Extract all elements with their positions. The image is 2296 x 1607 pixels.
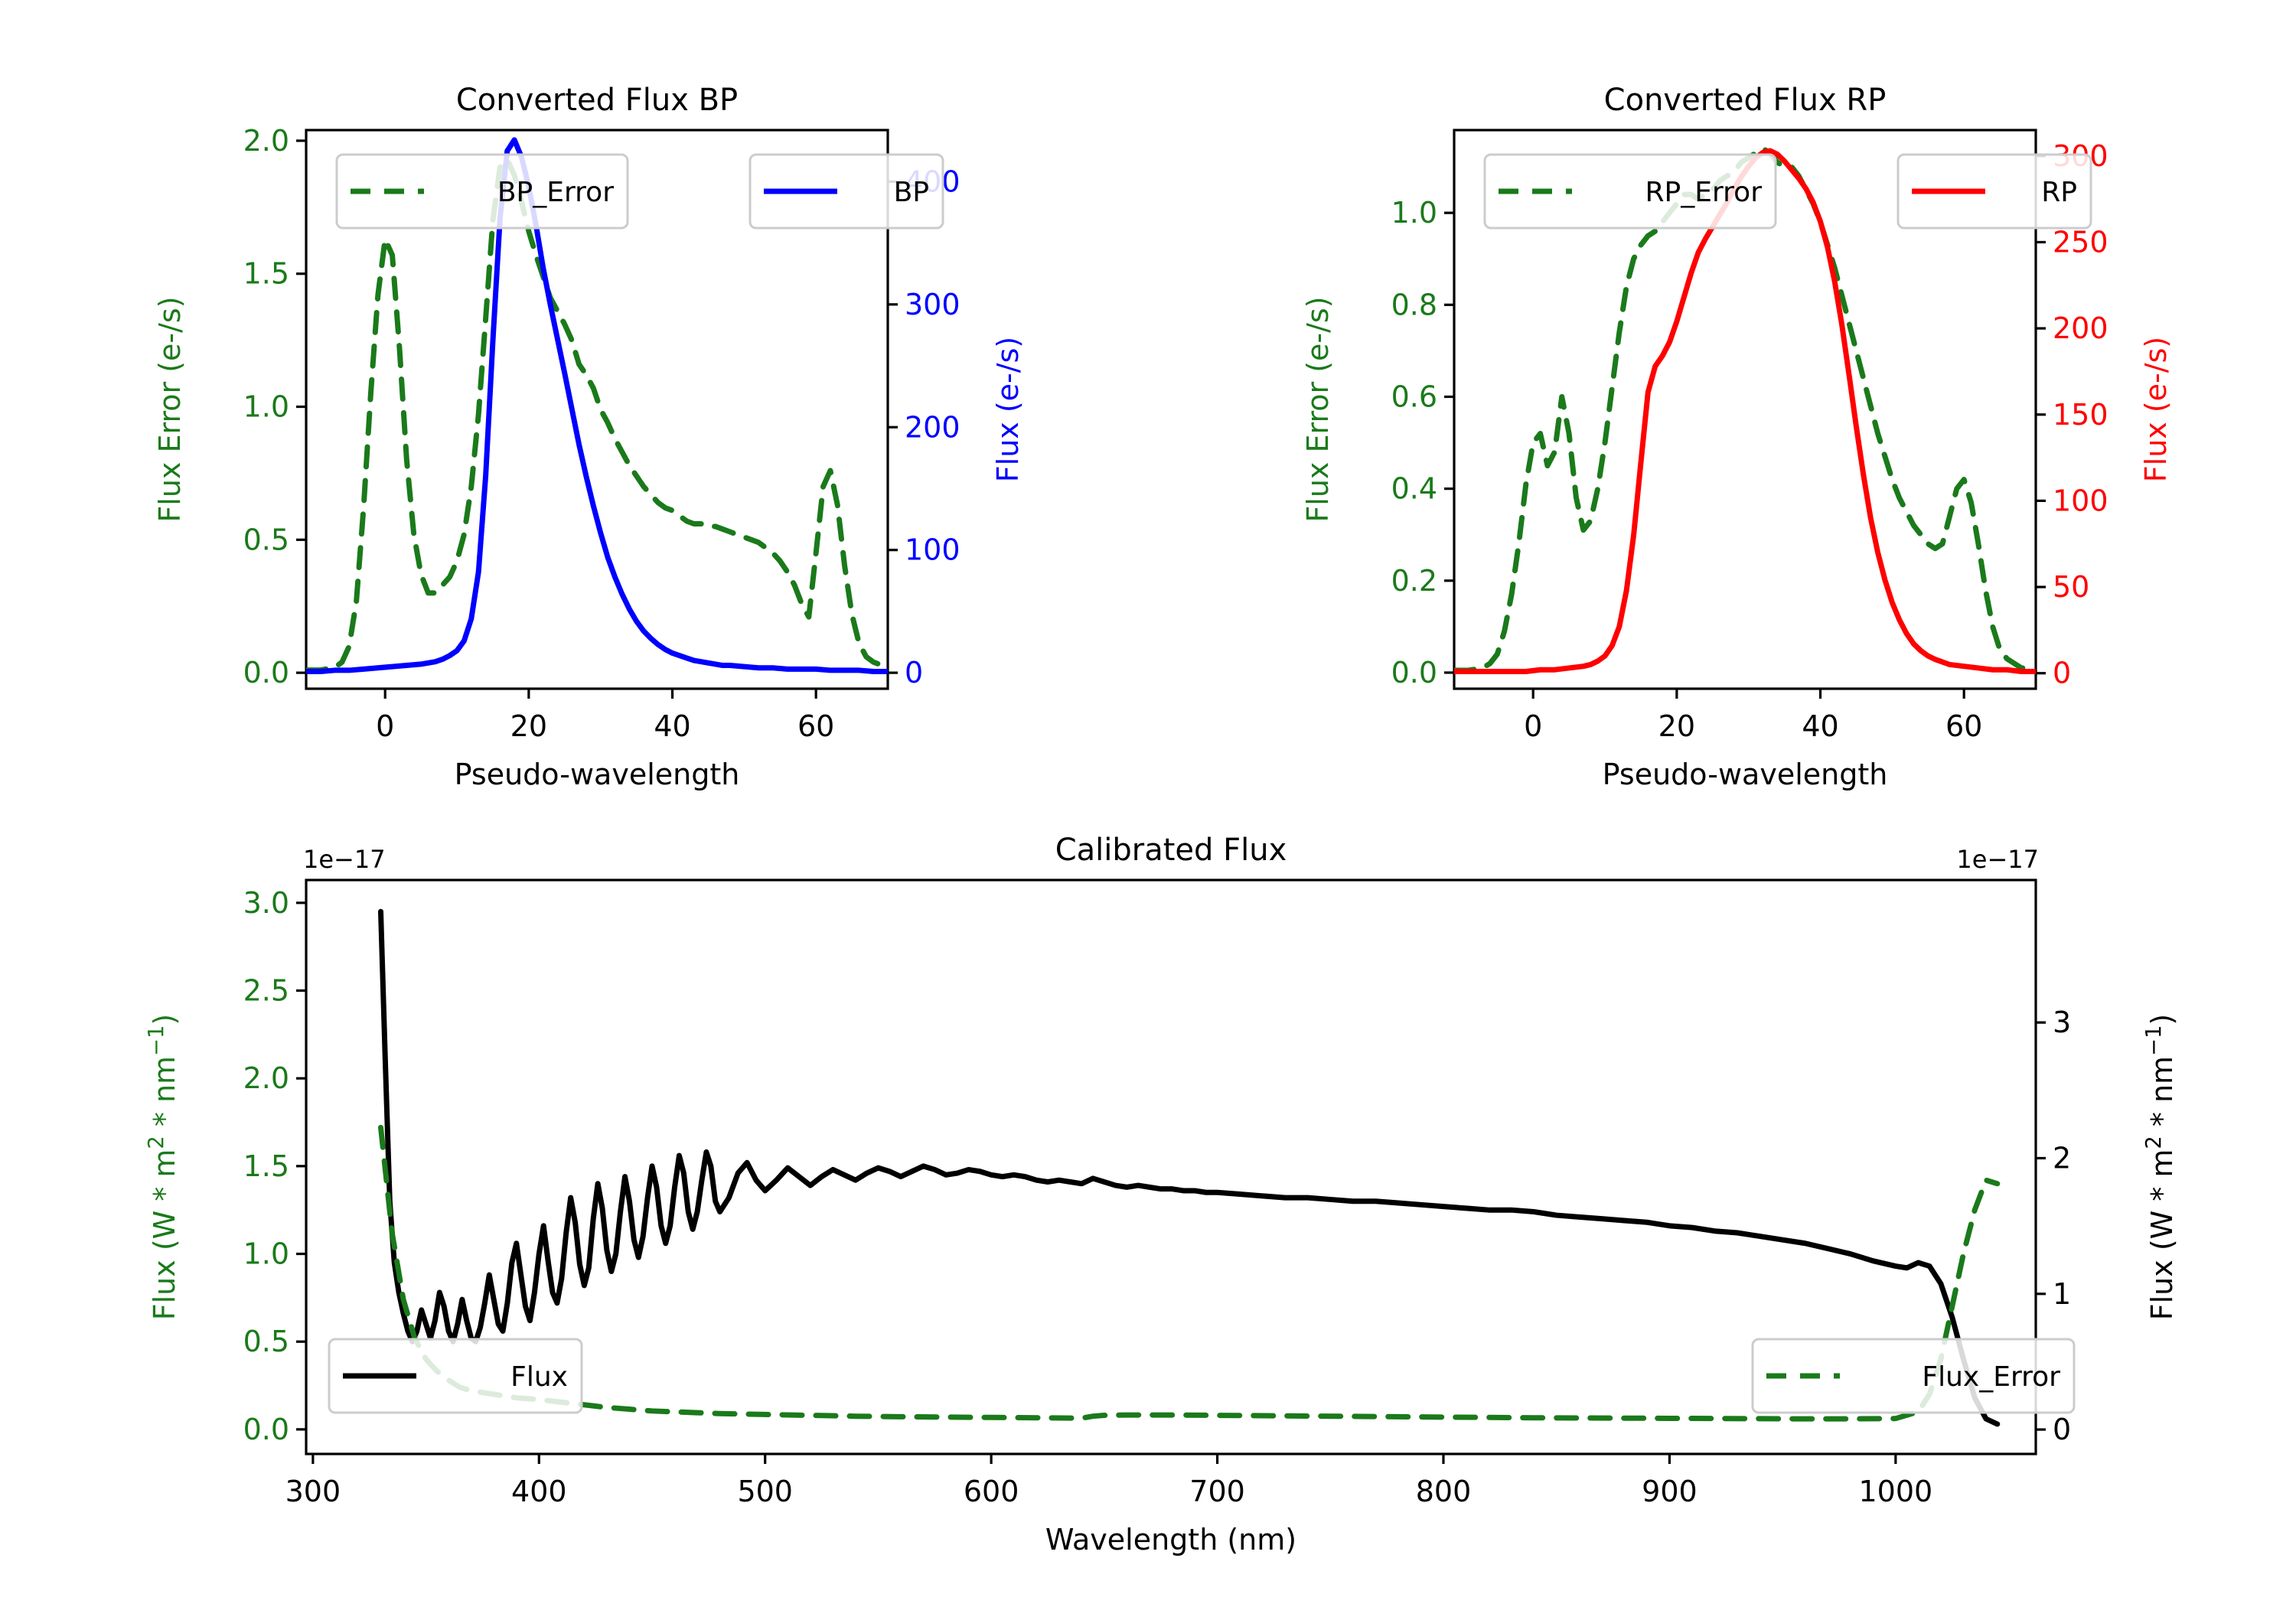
calibrated-ytick-left: 3.0 <box>243 886 289 920</box>
calibrated-ytick-right: 1 <box>2053 1277 2071 1311</box>
bp-ylabel-left: Flux Error (e-/s) <box>153 296 187 522</box>
bp-ylabel-right: Flux (e-/s) <box>991 337 1025 482</box>
calibrated-ytick-left: 2.0 <box>243 1061 289 1095</box>
bp-ytick-left: 0.0 <box>243 656 289 689</box>
rp-ytick-left: 1.0 <box>1391 196 1437 230</box>
calibrated-title: Calibrated Flux <box>1055 834 1287 868</box>
rp-ytick-left: 0.8 <box>1391 288 1437 321</box>
rp-legend-rp_error[interactable]: RP_Error <box>1485 155 1776 228</box>
rp-ytick-right: 250 <box>2053 225 2108 259</box>
bp-xlabel: Pseudo-wavelength <box>455 758 740 791</box>
calibrated-xtick: 500 <box>737 1475 793 1508</box>
rp-ytick-left: 0.2 <box>1391 564 1437 598</box>
calibrated-xtick: 800 <box>1416 1475 1472 1508</box>
rp-ytick-left: 0.0 <box>1391 656 1437 689</box>
calibrated-ytick-right: 3 <box>2053 1006 2071 1039</box>
legend-label: BP_Error <box>497 177 614 208</box>
calibrated-ylabel-left: Flux (W * m2 * nm−1) <box>145 1014 182 1321</box>
rp-ytick-right: 150 <box>2053 398 2108 432</box>
rp-ytick-right: 100 <box>2053 484 2108 517</box>
bp-xtick: 20 <box>510 709 547 743</box>
bp-ytick-right: 300 <box>905 288 960 321</box>
calibrated-ytick-left: 2.5 <box>243 973 289 1007</box>
rp-xtick: 20 <box>1658 709 1695 743</box>
rp-ytick-right: 0 <box>2053 657 2071 690</box>
legend-label: RP <box>2041 177 2077 208</box>
calibrated-legend-flux[interactable]: Flux <box>329 1339 582 1413</box>
rp-ytick-right: 50 <box>2053 570 2089 604</box>
rp-ytick-left: 0.4 <box>1391 472 1437 506</box>
calibrated-ylabel-right: Flux (W * m2 * nm−1) <box>2142 1014 2180 1321</box>
bp-panel: Converted Flux BP0204060Pseudo-wavelengt… <box>0 46 1148 819</box>
bp-legend-bp_error[interactable]: BP_Error <box>337 155 628 228</box>
calibrated-ytick-left: 0.0 <box>243 1413 289 1446</box>
legend-label: Flux <box>510 1361 568 1393</box>
bp-legend-bp[interactable]: BP <box>750 155 943 228</box>
calibrated-ytick-right: 2 <box>2053 1141 2071 1175</box>
calibrated-xtick: 700 <box>1189 1475 1245 1508</box>
rp-legend-rp[interactable]: RP <box>1898 155 2091 228</box>
bp-title: Converted Flux BP <box>456 83 738 118</box>
bp-ytick-left: 1.0 <box>243 390 289 424</box>
calibrated-xtick: 900 <box>1642 1475 1698 1508</box>
rp-xtick: 40 <box>1802 709 1838 743</box>
rp-xtick: 0 <box>1524 709 1542 743</box>
calibrated-xtick: 400 <box>511 1475 567 1508</box>
bp-xtick: 60 <box>797 709 834 743</box>
rp-ylabel-right: Flux (e-/s) <box>2139 337 2173 482</box>
calibrated-left-offset: 1e−17 <box>303 845 386 874</box>
rp-ytick-left: 0.6 <box>1391 380 1437 413</box>
calibrated-xtick: 300 <box>285 1475 341 1508</box>
rp-panel: Converted Flux RP0204060Pseudo-wavelengt… <box>1148 46 2296 819</box>
calibrated-legend-flux_error[interactable]: Flux_Error <box>1753 1339 2074 1413</box>
bp-ytick-left: 2.0 <box>243 124 289 158</box>
rp-ylabel-left: Flux Error (e-/s) <box>1301 296 1335 522</box>
calibrated-ytick-right: 0 <box>2053 1413 2071 1446</box>
calibrated-panel: Calibrated Flux1e−171e−17300400500600700… <box>0 834 2296 1607</box>
legend-label: BP <box>894 177 929 208</box>
figure-canvas: Converted Flux BP0204060Pseudo-wavelengt… <box>0 0 2296 1607</box>
legend-label: RP_Error <box>1645 177 1763 208</box>
legend-label: Flux_Error <box>1922 1361 2060 1393</box>
bp-xtick: 0 <box>376 709 394 743</box>
bp-ytick-right: 0 <box>905 656 923 689</box>
bp-series-bp_error <box>306 159 888 670</box>
bp-ytick-right: 100 <box>905 533 960 567</box>
calibrated-ytick-left: 0.5 <box>243 1325 289 1358</box>
rp-xtick: 60 <box>1945 709 1982 743</box>
bp-ytick-right: 200 <box>905 410 960 444</box>
calibrated-ytick-left: 1.0 <box>243 1237 289 1271</box>
bp-ytick-left: 0.5 <box>243 523 289 556</box>
calibrated-right-offset: 1e−17 <box>1956 845 2039 874</box>
rp-xlabel: Pseudo-wavelength <box>1603 758 1888 791</box>
rp-title: Converted Flux RP <box>1604 83 1887 118</box>
calibrated-xtick: 1000 <box>1858 1475 1932 1508</box>
calibrated-xtick: 600 <box>964 1475 1019 1508</box>
bp-ytick-left: 1.5 <box>243 257 289 291</box>
calibrated-ytick-left: 1.5 <box>243 1149 289 1183</box>
rp-ytick-right: 200 <box>2053 311 2108 345</box>
bp-xtick: 40 <box>654 709 690 743</box>
calibrated-xlabel: Wavelength (nm) <box>1045 1523 1296 1556</box>
